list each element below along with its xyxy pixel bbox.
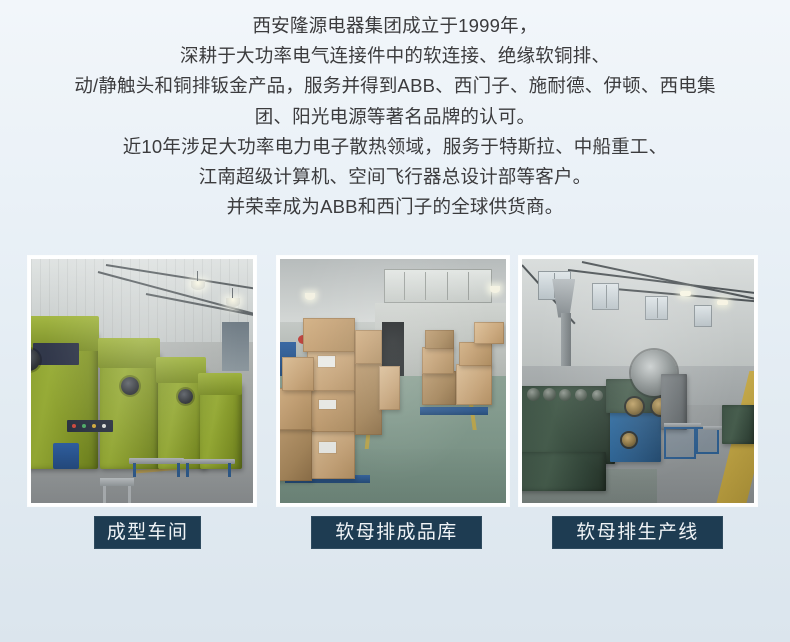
intro-line-1: 西安隆源电器集团成立于1999年，	[0, 11, 790, 41]
vertical-column	[561, 313, 570, 367]
extruder-body-2	[522, 452, 606, 491]
carton-l1	[309, 430, 354, 479]
roller-4	[575, 389, 587, 401]
mullion-4	[468, 272, 469, 300]
carton-l9	[355, 330, 382, 364]
carton-r4	[459, 342, 493, 366]
carton-r5	[425, 330, 454, 350]
ceiling-lamp-2	[490, 286, 500, 293]
press-flywheel-3	[178, 389, 193, 404]
intro-line-7: 并荣幸成为ABB和西门子的全球供货商。	[0, 192, 790, 222]
carton-l10	[379, 366, 399, 410]
punch-press-4	[200, 383, 242, 468]
grey-cabinet	[661, 374, 687, 430]
workshop-door	[222, 322, 249, 371]
company-intro-page: 西安隆源电器集团成立于1999年， 深耕于大功率电气连接件中的软连接、绝缘软铜排…	[0, 0, 790, 642]
mullion-2	[425, 272, 426, 300]
press-head-4	[198, 373, 242, 395]
blue-frame-1	[664, 427, 696, 459]
far-machine	[722, 405, 754, 444]
carton-l6	[282, 357, 314, 391]
ceiling-lamp-2	[717, 300, 728, 305]
photo-card-forming-workshop	[28, 256, 256, 506]
mullion-1	[404, 272, 405, 300]
press-flywheel-2	[121, 377, 139, 395]
blue-frame-2	[696, 427, 719, 454]
carton-r6	[474, 322, 503, 344]
carton-label-2	[319, 400, 335, 410]
carton-l4	[280, 427, 312, 481]
roller-1	[527, 388, 540, 401]
carton-r2	[422, 347, 454, 374]
intro-line-5: 近10年涉足大功率电力电子散热领域，服务于特斯拉、中船重工、	[0, 132, 790, 162]
bench-right-1	[664, 423, 701, 427]
control-panel	[67, 420, 113, 432]
carton-l5	[280, 388, 312, 429]
pallet-right-1	[420, 407, 488, 415]
indicator-green	[82, 424, 86, 428]
indicator-yellow	[92, 424, 96, 428]
carton-l8	[355, 362, 382, 435]
company-intro-text: 西安隆源电器集团成立于1999年， 深耕于大功率电气连接件中的软连接、绝缘软铜排…	[0, 11, 790, 222]
intro-line-2: 深耕于大功率电气连接件中的软连接、绝缘软铜排、	[0, 41, 790, 71]
photo-caption-row: 成型车间 软母排成品库 软母排生产线	[0, 516, 790, 550]
carton-label-1	[319, 442, 335, 453]
blue-barrel	[53, 443, 79, 469]
factory-photo-gallery	[0, 256, 790, 506]
roller-2	[543, 388, 556, 401]
punch-press-2	[100, 352, 160, 469]
work-bench-2	[182, 459, 235, 464]
press-head-2	[98, 338, 160, 368]
carton-r3	[456, 364, 492, 405]
photo-card-busbar-line	[519, 256, 757, 506]
caption-busbar-line: 软母排生产线	[552, 516, 723, 549]
press-plate-1	[33, 343, 80, 365]
photo-forming-workshop	[31, 259, 253, 503]
metal-stool	[100, 478, 134, 486]
carton-r1	[422, 371, 456, 405]
roller-3	[559, 389, 571, 401]
intro-line-4: 团、阳光电源等著名品牌的认可。	[0, 102, 790, 132]
mullion-3	[447, 272, 448, 300]
photo-card-busbar-warehouse	[277, 256, 509, 506]
intro-line-6: 江南超级计算机、空间飞行器总设计部等客户。	[0, 162, 790, 192]
indicator-white	[102, 424, 106, 428]
indicator-red	[72, 424, 76, 428]
ceiling-lamp-1	[191, 281, 205, 290]
caption-busbar-warehouse: 软母排成品库	[311, 516, 482, 549]
window-mullion-2	[606, 285, 607, 308]
carton-label-3	[318, 356, 335, 366]
window-mullion-3	[657, 298, 658, 318]
pulley-3	[622, 433, 636, 447]
work-bench-1	[129, 458, 185, 464]
blue-machine-base	[610, 408, 661, 462]
photo-flexible-busbar-line	[522, 259, 754, 503]
mezzanine-windows	[384, 269, 492, 303]
carton-l2	[309, 388, 354, 432]
photo-flexible-busbar-warehouse	[280, 259, 506, 503]
window-3	[645, 296, 668, 320]
caption-forming-workshop: 成型车间	[94, 516, 201, 549]
window-2	[592, 283, 620, 310]
intro-line-3: 动/静触头和铜排钣金产品，服务并得到ABB、西门子、施耐德、伊顿、西电集	[0, 71, 790, 101]
roller-5	[592, 390, 603, 401]
carton-l7	[303, 318, 355, 352]
window-4	[694, 305, 713, 327]
ceiling-lamp-1	[680, 291, 691, 296]
